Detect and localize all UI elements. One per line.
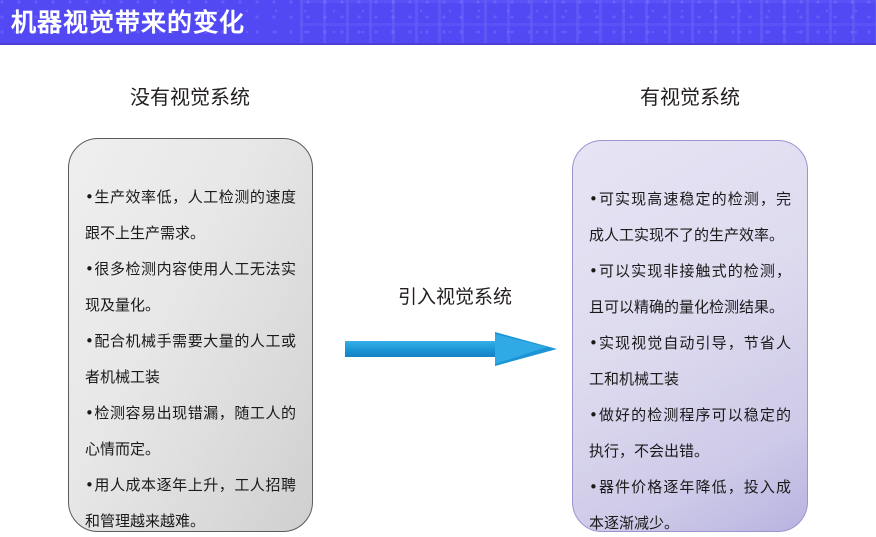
banner-underline-divider [0,43,876,45]
list-item: •用人成本逐年上升，工人招聘和管理越来越难。 [85,467,296,537]
left-bullet-list: •生产效率低，人工检测的速度跟不上生产需求。 •很多检测内容使用人工无法实现及量… [85,179,296,537]
header-banner: 机器视觉带来的变化 [0,0,876,45]
right-column-heading: 有视觉系统 [572,82,808,112]
arrow-shaft [345,341,500,357]
list-item: •器件价格逐年降低，投入成本逐渐减少。 [589,469,791,537]
list-item: •很多检测内容使用人工无法实现及量化。 [85,251,296,323]
transition-label: 引入视觉系统 [355,283,555,311]
list-item: •配合机械手需要大量的人工或者机械工装 [85,323,296,395]
right-bullet-list: •可实现高速稳定的检测，完成人工实现不了的生产效率。 •可以实现非接触式的检测，… [589,181,791,537]
list-item: •可以实现非接触式的检测，且可以精确的量化检测结果。 [589,253,791,325]
list-item: •生产效率低，人工检测的速度跟不上生产需求。 [85,179,296,251]
list-item: •检测容易出现错漏，随工人的心情而定。 [85,395,296,467]
right-content-box: •可实现高速稳定的检测，完成人工实现不了的生产效率。 •可以实现非接触式的检测，… [572,140,808,532]
list-item: •实现视觉自动引导，节省人工和机械工装 [589,325,791,397]
arrow-head-highlight [495,334,547,364]
left-column-heading: 没有视觉系统 [70,82,310,112]
slide-canvas: 机器视觉带来的变化 没有视觉系统 有视觉系统 •生产效率低，人工检测的速度跟不上… [0,0,876,537]
list-item: •可实现高速稳定的检测，完成人工实现不了的生产效率。 [589,181,791,253]
list-item: •做好的检测程序可以稳定的执行，不会出错。 [589,397,791,469]
left-content-box: •生产效率低，人工检测的速度跟不上生产需求。 •很多检测内容使用人工无法实现及量… [68,138,313,532]
page-title: 机器视觉带来的变化 [11,4,245,42]
right-arrow-icon [345,332,557,366]
banner-grid-pattern-decoration [300,0,876,45]
